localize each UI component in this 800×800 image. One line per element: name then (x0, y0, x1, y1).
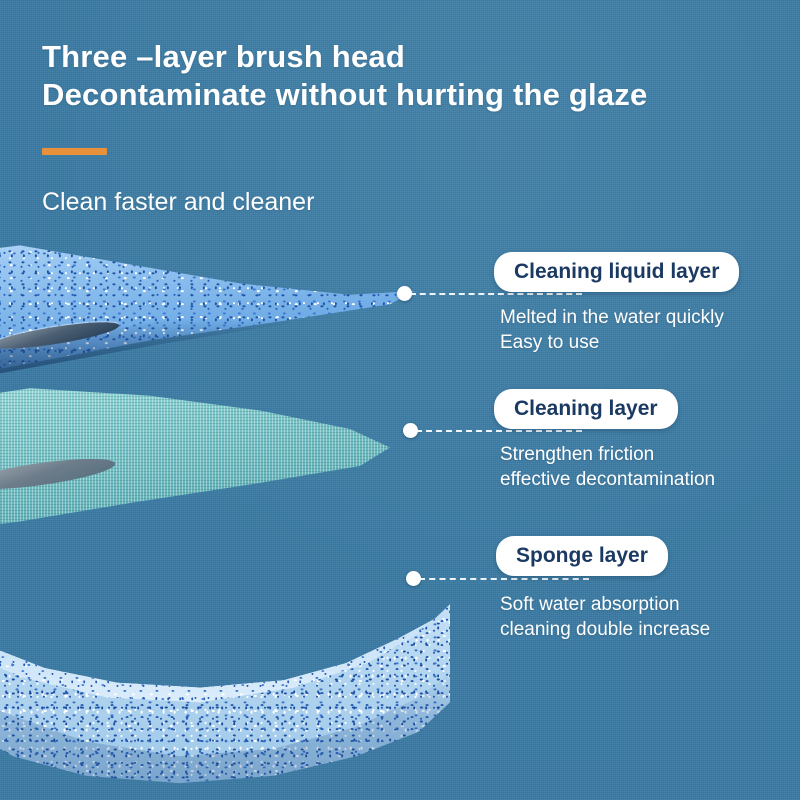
header: Three –layer brush head Decontaminate wi… (42, 38, 762, 114)
callout-cleaning-layer: Cleaning layer (494, 389, 678, 429)
headline-line-2: Decontaminate without hurting the glaze (42, 76, 762, 114)
product-layer-cleaning-liquid (0, 215, 430, 405)
subtitle: Clean faster and cleaner (42, 186, 314, 218)
callout-cleaning-liquid-layer: Cleaning liquid layer (494, 252, 739, 292)
callout-title-cleaning-layer: Cleaning layer (494, 389, 678, 429)
leader-line-sponge-layer (419, 578, 589, 580)
product-illustration (0, 215, 490, 800)
callout-desc-line-2: effective decontamination (500, 467, 715, 492)
product-infographic-poster: Three –layer brush head Decontaminate wi… (0, 0, 800, 800)
callout-title-cleaning-liquid-layer: Cleaning liquid layer (494, 252, 739, 292)
callout-desc-cleaning-liquid-layer: Melted in the water quickly Easy to use (500, 305, 724, 355)
leader-line-cleaning-liquid-layer (410, 293, 582, 295)
callout-desc-line-1: Strengthen friction (500, 442, 715, 467)
orange-accent-bar (42, 148, 107, 155)
callout-sponge-layer: Sponge layer (496, 536, 668, 576)
callout-title-sponge-layer: Sponge layer (496, 536, 668, 576)
callout-desc-line-1: Soft water absorption (500, 592, 710, 617)
callout-desc-cleaning-layer: Strengthen friction effective decontamin… (500, 442, 715, 492)
callout-desc-line-2: cleaning double increase (500, 617, 710, 642)
leader-line-cleaning-layer (416, 430, 582, 432)
callout-desc-line-2: Easy to use (500, 330, 724, 355)
product-layer-cleaning-mesh (0, 355, 430, 540)
headline-line-1: Three –layer brush head (42, 38, 762, 76)
callout-desc-line-1: Melted in the water quickly (500, 305, 724, 330)
callout-desc-sponge-layer: Soft water absorption cleaning double in… (500, 592, 710, 642)
